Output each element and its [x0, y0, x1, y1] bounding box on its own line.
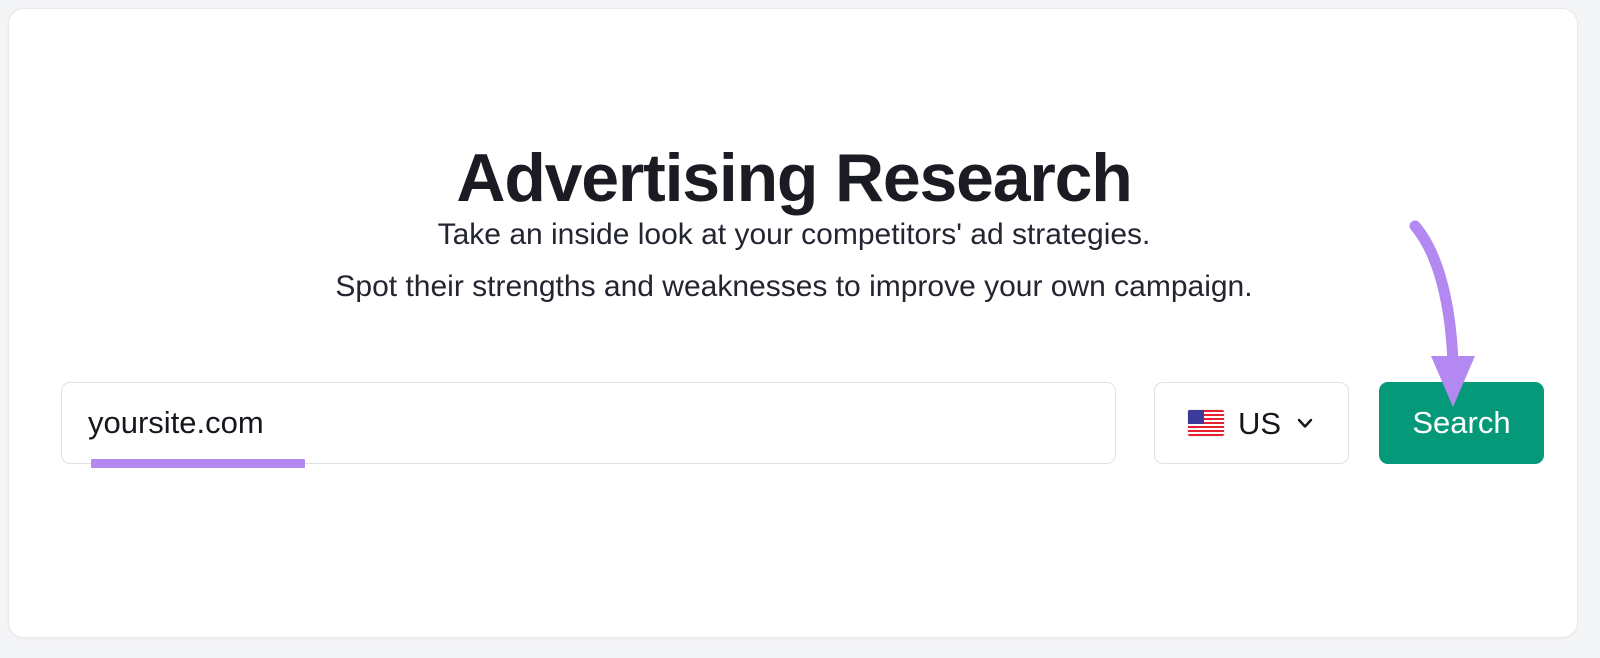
subtitle-line-2: Spot their strengths and weaknesses to i…	[9, 261, 1579, 313]
advertising-research-card: Advertising Research Take an inside look…	[8, 8, 1578, 638]
search-input[interactable]	[62, 383, 1115, 463]
country-select[interactable]: US	[1154, 382, 1349, 464]
search-input-container[interactable]	[61, 382, 1116, 464]
search-row: US Search	[61, 374, 1539, 466]
search-button[interactable]: Search	[1379, 382, 1544, 464]
page-title: Advertising Research	[9, 139, 1579, 217]
page-subtitle: Take an inside look at your competitors'…	[9, 209, 1579, 313]
subtitle-line-1: Take an inside look at your competitors'…	[9, 209, 1579, 261]
us-flag-icon	[1188, 410, 1224, 436]
screen: Advertising Research Take an inside look…	[0, 0, 1600, 658]
chevron-down-icon	[1295, 413, 1315, 433]
country-code-label: US	[1238, 408, 1281, 439]
purple-underline-annotation	[91, 459, 305, 468]
